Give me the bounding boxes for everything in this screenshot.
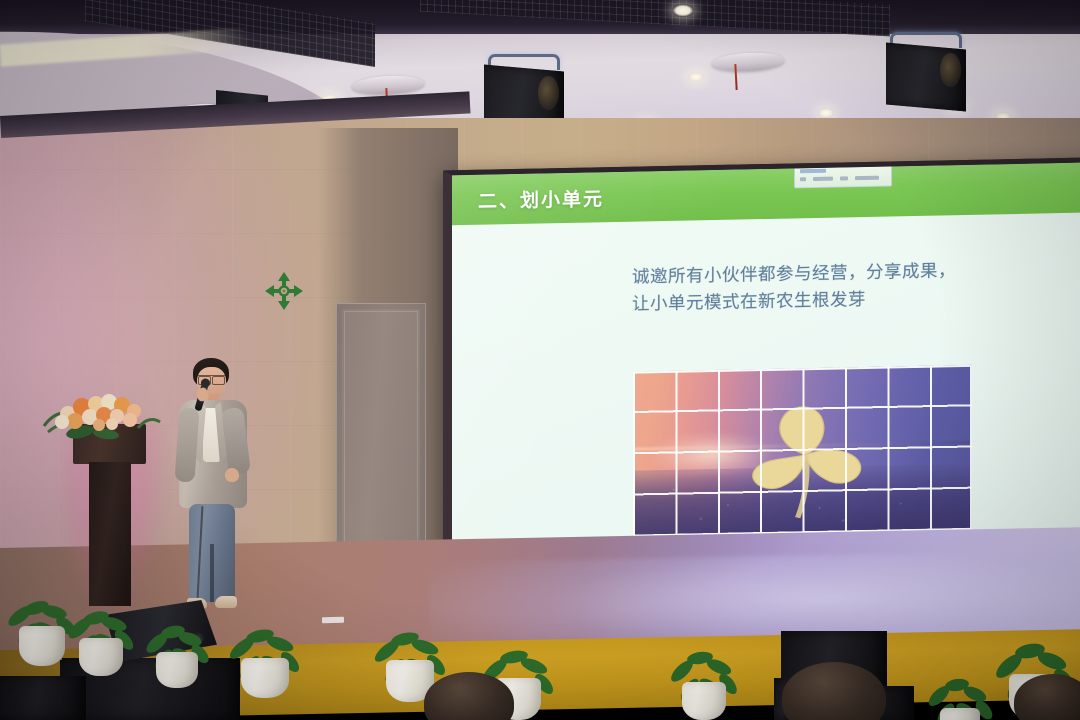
screen-frame-border xyxy=(443,158,1080,571)
floral-arrangement xyxy=(42,388,162,443)
downlight-icon-2 xyxy=(688,72,704,82)
projection-screen: 二、划小单元 诚邀所有小伙伴都参与经营，分享成果，让小单元模式在新农生根发芽 xyxy=(443,158,1080,571)
potted-plant-9 xyxy=(142,592,212,688)
plant-pot xyxy=(156,652,198,688)
floor-paper-scrap xyxy=(322,617,344,624)
presenter-hand-right xyxy=(225,468,239,482)
plant-pot xyxy=(79,638,123,676)
downlight-icon-9 xyxy=(672,4,694,17)
plant-pot xyxy=(940,708,980,720)
four-direction-arrow-icon xyxy=(263,270,305,312)
plant-pot xyxy=(19,626,65,666)
potted-plant-8 xyxy=(922,648,998,720)
stage-side-door[interactable] xyxy=(336,303,426,553)
downlight-icon-6 xyxy=(818,108,834,118)
potted-plant-6 xyxy=(664,618,744,720)
equipment-case-far-left xyxy=(0,676,86,720)
speaker-cone xyxy=(940,53,961,86)
presentation-scene: 二、划小单元 诚邀所有小伙伴都参与经营，分享成果，让小单元模式在新农生根发芽 xyxy=(0,0,1080,720)
potted-plant-2 xyxy=(64,574,138,676)
plant-pot xyxy=(682,682,726,720)
presenter xyxy=(165,358,260,620)
plant-pot xyxy=(241,658,289,698)
potted-plant-3 xyxy=(226,590,304,698)
ceiling-speaker-icon-right xyxy=(886,32,966,108)
